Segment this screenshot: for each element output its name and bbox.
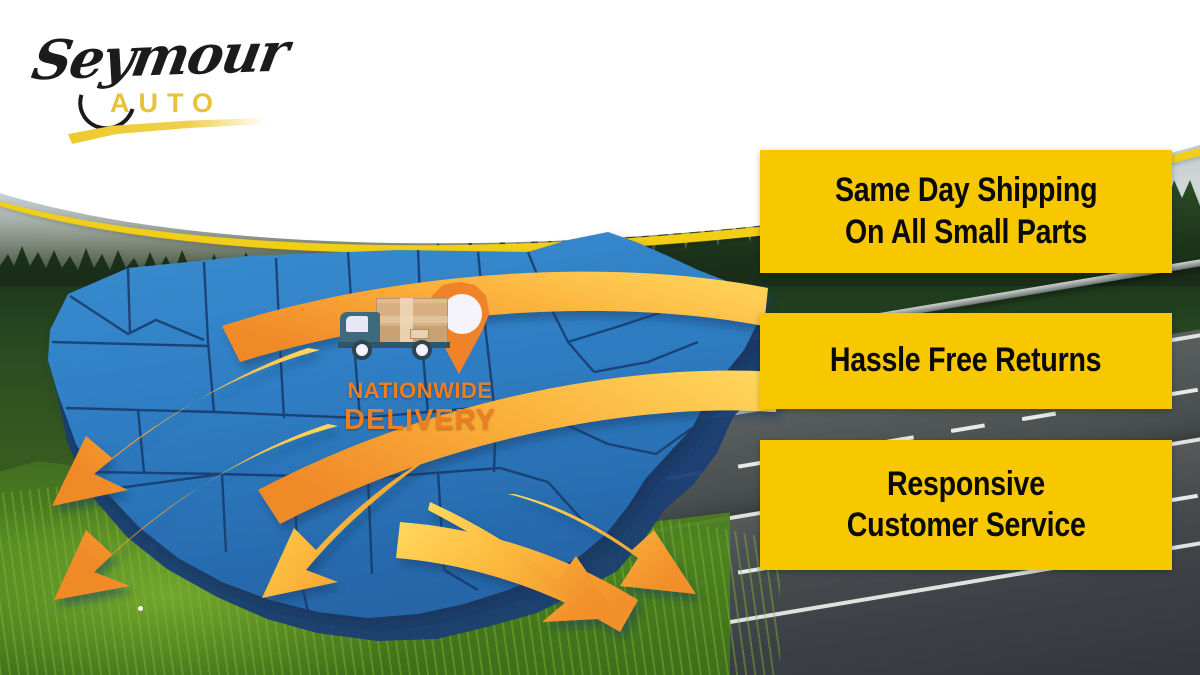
logo-brand-name: Seymour [27,20,292,93]
callout-2-line-1: Hassle Free Returns [830,340,1101,381]
delivery-truck-icon [338,296,448,368]
nationwide-delivery-badge: NATIONWIDE DELIVERY [330,282,510,452]
badge-line-2: DELIVERY [330,404,510,437]
callout-same-day-shipping[interactable]: Same Day Shipping On All Small Parts [760,150,1172,273]
callout-1-line-2: On All Small Parts [845,212,1087,253]
map-pin-center [442,294,482,334]
callout-hassle-free-returns[interactable]: Hassle Free Returns [760,313,1172,409]
callout-3-line-1: Responsive [887,464,1045,505]
callout-1-line-1: Same Day Shipping [835,170,1097,211]
badge-line-1: NATIONWIDE [330,378,510,404]
callout-responsive-customer-service[interactable]: Responsive Customer Service [760,440,1172,570]
brand-logo[interactable]: Seymour AUTO [28,22,278,132]
callout-3-line-2: Customer Service [847,505,1086,546]
logo-sub-name: AUTO [110,88,222,119]
promo-banner: Seymour AUTO [0,0,1200,675]
